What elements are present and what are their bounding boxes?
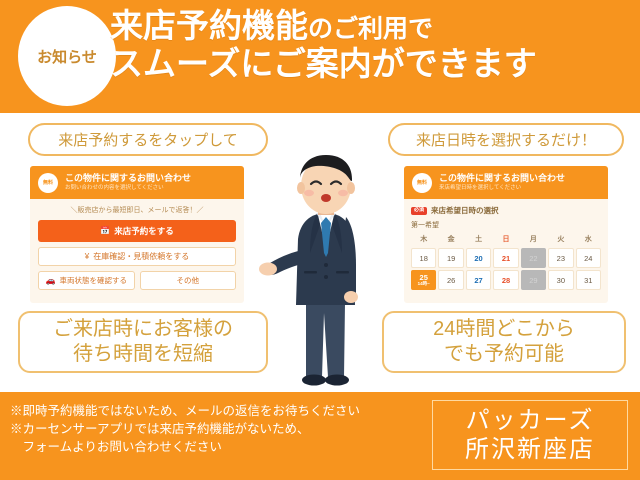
- calendar-date-26[interactable]: 26: [438, 270, 463, 290]
- calendar-date-number: 22: [529, 254, 537, 263]
- car-icon: 🚗: [46, 277, 56, 285]
- businessman-illustration: [258, 153, 394, 392]
- headline-line-1: 来店予約機能のご利用で: [110, 8, 638, 44]
- calendar-weekday-水: 水: [576, 234, 601, 246]
- benefit-box-right: 24時間どこから でも予約可能: [382, 311, 626, 373]
- headline-main-text: 来店予約機能: [110, 7, 308, 44]
- calendar-date-number: 30: [557, 276, 565, 285]
- calendar-weekday-日: 日: [493, 234, 518, 246]
- calendar-panel-subtitle: 来店希望日時を選択してください: [439, 185, 565, 192]
- benefit-right-line-1: 24時間どこから: [433, 317, 575, 342]
- disclaimer-line-3: フォームよりお問い合わせください: [10, 438, 430, 456]
- shop-name-line-1: パッカーズ: [466, 406, 595, 435]
- calendar-date-number: 28: [502, 276, 510, 285]
- calendar-date-number: 20: [474, 254, 482, 263]
- disclaimer-line-1: ※即時予約機能ではないため、メールの返信をお待ちください: [10, 402, 430, 420]
- calendar-icon: 📅: [100, 227, 110, 235]
- calendar-date-number: 26: [447, 276, 455, 285]
- reserve-visit-button[interactable]: 📅 来店予約をする: [38, 220, 236, 242]
- free-badge: 無料: [38, 173, 58, 193]
- disclaimer-text: ※即時予約機能ではないため、メールの返信をお待ちください※カーセンサーアプリでは…: [10, 402, 430, 456]
- calendar-date-number: 19: [447, 254, 455, 263]
- free-badge-label: 無料: [43, 179, 53, 186]
- calendar-weekday-土: 土: [466, 234, 491, 246]
- calendar-weekday-火: 火: [548, 234, 573, 246]
- shop-name-line-2: 所沢新座店: [465, 435, 595, 464]
- calendar-date-31[interactable]: 31: [576, 270, 601, 290]
- header-band: お知らせ 来店予約機能のご利用で スムーズにご案内ができます: [0, 0, 640, 113]
- other-label: その他: [177, 275, 200, 286]
- yen-icon: ¥: [85, 253, 89, 261]
- calendar-date-28[interactable]: 28: [493, 270, 518, 290]
- benefit-left-line-2: 待ち時間を短縮: [73, 342, 213, 367]
- callout-left-label: 来店予約するをタップして: [58, 129, 238, 150]
- stock-estimate-button[interactable]: ¥ 在庫確認・見積依頼をする: [38, 247, 236, 266]
- headline-line-2: スムーズにご案内ができます: [110, 46, 638, 82]
- calendar-date-number: 24: [584, 254, 592, 263]
- advertisement-banner: お知らせ 来店予約機能のご利用で スムーズにご案内ができます 来店予約するをタッ…: [0, 0, 640, 480]
- inquiry-panel-subtitle: お問い合わせの内容を選択してください: [65, 185, 191, 192]
- other-button[interactable]: その他: [140, 271, 237, 290]
- calendar-weekday-月: 月: [521, 234, 546, 246]
- calendar-panel-title: この物件に関するお問い合わせ: [439, 173, 565, 183]
- vehicle-condition-button[interactable]: 🚗 車両状態を確認する: [38, 271, 135, 290]
- reserve-visit-label: 来店予約をする: [114, 225, 174, 237]
- notice-badge-label: お知らせ: [37, 46, 97, 67]
- calendar-date-20[interactable]: 20: [466, 248, 491, 268]
- calendar-date-number: 29: [529, 276, 537, 285]
- shop-logo: パッカーズ 所沢新座店: [432, 400, 628, 470]
- free-badge-label: 無料: [417, 179, 427, 186]
- calendar-date-30[interactable]: 30: [548, 270, 573, 290]
- benefit-right-line-2: でも予約可能: [444, 342, 564, 367]
- main-content: 来店予約するをタップして 来店日時を選択するだけ！ 無料 この物件に関するお問い…: [0, 113, 640, 392]
- calendar-date-23[interactable]: 23: [548, 248, 573, 268]
- calendar-weekday-木: 木: [411, 234, 436, 246]
- calendar-date-number: 18: [420, 254, 428, 263]
- calendar-weekday-金: 金: [438, 234, 463, 246]
- calendar-date-number: 23: [557, 254, 565, 263]
- inquiry-panel-header: 無料 この物件に関するお問い合わせ お問い合わせの内容を選択してください: [30, 166, 244, 199]
- calendar-date-number: 31: [584, 276, 592, 285]
- calendar-date-18[interactable]: 18: [411, 248, 436, 268]
- calendar-date-19[interactable]: 19: [438, 248, 463, 268]
- calendar-date-number: 21: [502, 254, 510, 263]
- disclaimer-line-2: ※カーセンサーアプリでは来店予約機能がないため、: [10, 420, 430, 438]
- calendar-date-time: 14時~: [418, 282, 430, 287]
- calendar-panel: 無料 この物件に関するお問い合わせ 来店希望日時を選択してください 必須 来店希…: [404, 166, 608, 303]
- inquiry-form-panel: 無料 この物件に関するお問い合わせ お問い合わせの内容を選択してください ＼販売…: [30, 166, 244, 303]
- benefit-box-left: ご来店時にお客様の 待ち時間を短縮: [18, 311, 268, 373]
- footer-band: ※即時予約機能ではないため、メールの返信をお待ちください※カーセンサーアプリでは…: [0, 392, 640, 480]
- free-badge: 無料: [412, 173, 432, 193]
- calendar-date-22: 22: [521, 248, 546, 268]
- calendar-date-24[interactable]: 24: [576, 248, 601, 268]
- callout-right: 来店日時を選択するだけ！: [388, 123, 624, 156]
- vehicle-condition-label: 車両状態を確認する: [59, 275, 127, 286]
- calendar-date-29: 29: [521, 270, 546, 290]
- required-badge: 必須: [411, 207, 427, 215]
- preference-label: 第一希望: [411, 220, 601, 230]
- callout-left: 来店予約するをタップして: [28, 123, 268, 156]
- benefit-left-line-1: ご来店時にお客様の: [53, 317, 233, 342]
- calendar-grid[interactable]: 木金土日月火水181920212223242514時~262728293031: [411, 234, 601, 290]
- calendar-date-25[interactable]: 2514時~: [411, 270, 436, 290]
- callout-right-label: 来店日時を選択するだけ！: [416, 129, 596, 150]
- header-headline: 来店予約機能のご利用で スムーズにご案内ができます: [110, 8, 638, 81]
- inquiry-panel-title: この物件に関するお問い合わせ: [65, 173, 191, 183]
- headline-small-text: のご利用で: [308, 15, 433, 43]
- calendar-date-number: 27: [474, 276, 482, 285]
- calendar-panel-header: 無料 この物件に関するお問い合わせ 来店希望日時を選択してください: [404, 166, 608, 199]
- calendar-date-27[interactable]: 27: [466, 270, 491, 290]
- calendar-section-title: 来店希望日時の選択: [431, 205, 499, 216]
- stock-estimate-label: 在庫確認・見積依頼をする: [93, 251, 189, 262]
- calendar-date-21[interactable]: 21: [493, 248, 518, 268]
- notice-badge: お知らせ: [18, 6, 116, 106]
- reply-note: ＼販売店から最短即日、メールで返答！／: [38, 205, 236, 215]
